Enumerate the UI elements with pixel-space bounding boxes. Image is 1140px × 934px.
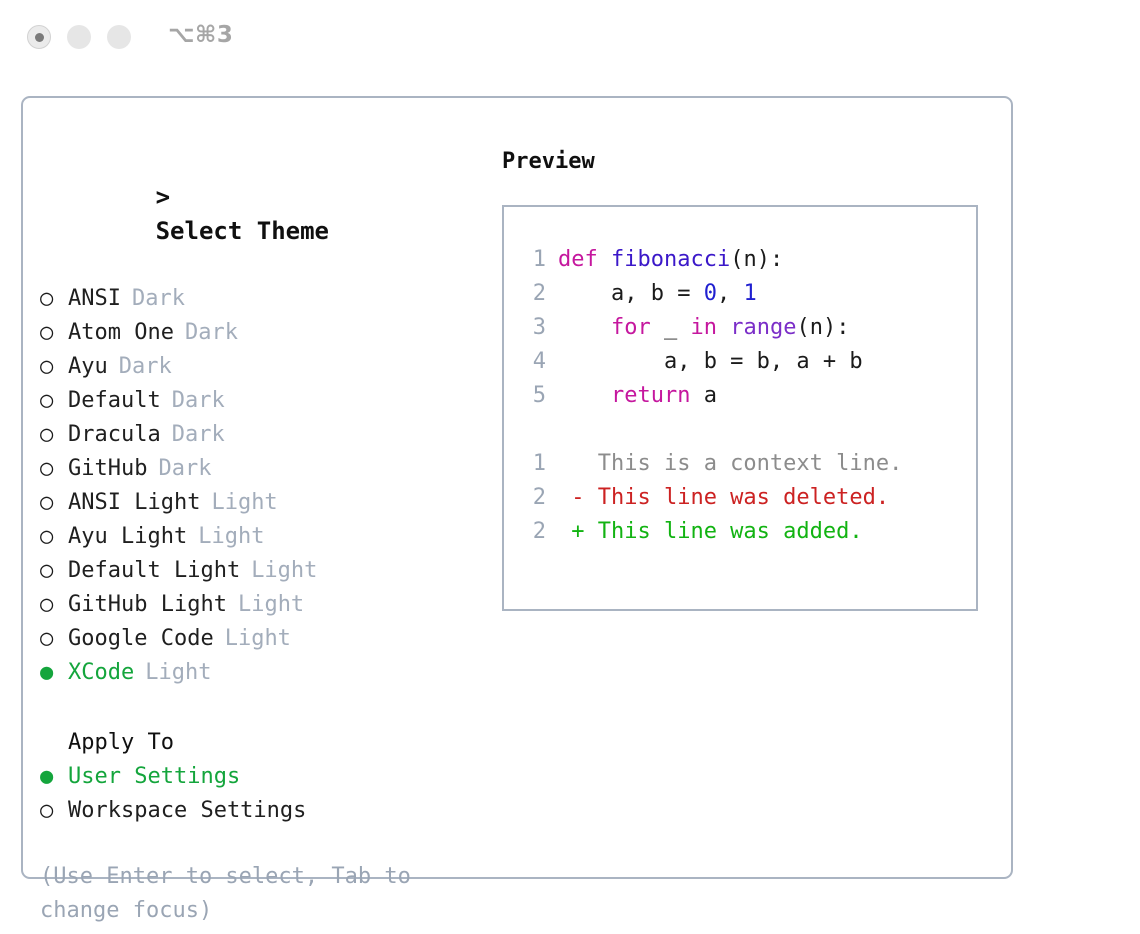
token-txt <box>558 383 611 408</box>
diff-line: 1 This is a context line. <box>518 447 902 481</box>
token-txt: a, b = b, a + b <box>558 349 863 374</box>
radio-unselected-icon: ○ <box>40 486 68 520</box>
radio-unselected-icon: ○ <box>40 384 68 418</box>
window-titlebar: ⌥⌘3 <box>0 0 1140 78</box>
line-number: 2 <box>518 277 546 311</box>
theme-option-5[interactable]: ○GitHubDark <box>40 452 490 486</box>
theme-option-7[interactable]: ○Ayu LightLight <box>40 520 490 554</box>
traffic-light-buttons <box>27 25 131 49</box>
theme-option-9[interactable]: ○GitHub LightLight <box>40 588 490 622</box>
code-preview: 1def fibonacci(n):2 a, b = 0, 13 for _ i… <box>518 243 902 549</box>
traffic-light-second-dot[interactable] <box>67 25 91 49</box>
keyboard-shortcut-label: ⌥⌘3 <box>168 22 233 48</box>
radio-unselected-icon: ○ <box>40 282 68 316</box>
theme-option-label: Ayu <box>68 350 108 384</box>
theme-picker-panel: > Select Theme ○ANSIDark○Atom OneDark○Ay… <box>21 96 1013 879</box>
theme-option-10[interactable]: ○Google CodeLight <box>40 622 490 656</box>
select-theme-heading: > Select Theme <box>40 146 490 282</box>
token-txt: a, b = <box>558 281 704 306</box>
token-txt: (n): <box>730 247 783 272</box>
theme-option-label: Default <box>68 384 161 418</box>
theme-option-label: ANSI Light <box>68 486 200 520</box>
theme-option-label: GitHub Light <box>68 588 227 622</box>
theme-option-6[interactable]: ○ANSI LightLight <box>40 486 490 520</box>
code-line: 2 a, b = 0, 1 <box>518 277 902 311</box>
token-txt: (n): <box>796 315 849 340</box>
radio-unselected-icon: ○ <box>40 588 68 622</box>
preview-box: 1def fibonacci(n):2 a, b = 0, 13 for _ i… <box>502 205 978 611</box>
theme-option-8[interactable]: ○Default LightLight <box>40 554 490 588</box>
code-line: 4 a, b = b, a + b <box>518 345 902 379</box>
theme-option-0[interactable]: ○ANSIDark <box>40 282 490 316</box>
line-number: 1 <box>518 243 546 277</box>
keyboard-hint-text: (Use Enter to select, Tab to change focu… <box>40 860 440 928</box>
radio-selected-icon: ● <box>40 656 68 690</box>
radio-selected-icon: ● <box>40 760 68 794</box>
diff-line: 2 - This line was deleted. <box>518 481 902 515</box>
apply-to-option-label: User Settings <box>68 760 240 794</box>
token-del: - This line was deleted. <box>558 485 889 510</box>
apply-to-option-label: Workspace Settings <box>68 794 306 828</box>
radio-unselected-icon: ○ <box>40 418 68 452</box>
theme-option-label: XCode <box>68 656 134 690</box>
theme-kind-badge: Dark <box>172 384 225 418</box>
code-line: 1def fibonacci(n): <box>518 243 902 277</box>
code-line-text: + This line was added. <box>546 515 863 549</box>
token-txt: _ <box>651 315 691 340</box>
theme-option-label: Ayu Light <box>68 520 187 554</box>
token-call: range <box>730 315 796 340</box>
theme-kind-badge: Light <box>251 554 317 588</box>
theme-kind-badge: Dark <box>132 282 185 316</box>
radio-unselected-icon: ○ <box>40 554 68 588</box>
apply-to-option-1[interactable]: ○Workspace Settings <box>40 794 490 828</box>
token-fn: fibonacci <box>611 247 730 272</box>
token-ctx: This is a context line. <box>558 451 902 476</box>
line-number: 1 <box>518 447 546 481</box>
line-number: 3 <box>518 311 546 345</box>
token-kw: def <box>558 247 611 272</box>
theme-kind-badge: Dark <box>172 418 225 452</box>
theme-option-1[interactable]: ○Atom OneDark <box>40 316 490 350</box>
apply-to-option-list[interactable]: ●User Settings○Workspace Settings <box>40 760 490 828</box>
preview-heading: Preview <box>502 146 992 178</box>
theme-option-label: Atom One <box>68 316 174 350</box>
token-kw: return <box>611 383 690 408</box>
diff-line: 2 + This line was added. <box>518 515 902 549</box>
token-txt: a <box>690 383 717 408</box>
theme-option-label: ANSI <box>68 282 121 316</box>
traffic-light-third-dot[interactable] <box>107 25 131 49</box>
code-line: 3 for _ in range(n): <box>518 311 902 345</box>
radio-unselected-icon: ○ <box>40 350 68 384</box>
theme-kind-badge: Dark <box>185 316 238 350</box>
token-add: + This line was added. <box>558 519 863 544</box>
code-line-text: a, b = 0, 1 <box>546 277 757 311</box>
token-txt: , <box>717 281 744 306</box>
preview-column: Preview 1def fibonacci(n):2 a, b = 0, 13… <box>502 146 992 611</box>
apply-to-section: Apply To ●User Settings○Workspace Settin… <box>40 726 490 828</box>
code-line-text: - This line was deleted. <box>546 481 889 515</box>
theme-option-3[interactable]: ○DefaultDark <box>40 384 490 418</box>
token-num: 0 <box>704 281 717 306</box>
theme-kind-badge: Light <box>225 622 291 656</box>
token-txt <box>717 315 730 340</box>
theme-option-label: Google Code <box>68 622 214 656</box>
line-number: 2 <box>518 481 546 515</box>
radio-unselected-icon: ○ <box>40 520 68 554</box>
theme-option-label: Dracula <box>68 418 161 452</box>
code-line: 5 return a <box>518 379 902 413</box>
theme-option-2[interactable]: ○AyuDark <box>40 350 490 384</box>
line-number: 2 <box>518 515 546 549</box>
apply-to-option-0[interactable]: ●User Settings <box>40 760 490 794</box>
token-kw: in <box>690 315 717 340</box>
theme-kind-badge: Light <box>198 520 264 554</box>
token-num: 1 <box>743 281 756 306</box>
theme-kind-badge: Light <box>238 588 304 622</box>
theme-kind-badge: Dark <box>158 452 211 486</box>
theme-kind-badge: Light <box>145 656 211 690</box>
code-line-text: def fibonacci(n): <box>546 243 783 277</box>
theme-kind-badge: Light <box>211 486 277 520</box>
code-line-text: for _ in range(n): <box>546 311 849 345</box>
theme-kind-badge: Dark <box>119 350 172 384</box>
token-kw: for <box>611 315 651 340</box>
theme-option-list[interactable]: ○ANSIDark○Atom OneDark○AyuDark○DefaultDa… <box>40 282 490 690</box>
radio-unselected-icon: ○ <box>40 316 68 350</box>
theme-option-11[interactable]: ●XCodeLight <box>40 656 490 690</box>
traffic-light-active-dot[interactable] <box>27 25 51 49</box>
radio-unselected-icon: ○ <box>40 622 68 656</box>
select-theme-heading-label: Select Theme <box>156 217 329 245</box>
line-number: 5 <box>518 379 546 413</box>
theme-selection-column: > Select Theme ○ANSIDark○Atom OneDark○Ay… <box>40 146 490 928</box>
code-line-text: a, b = b, a + b <box>546 345 863 379</box>
theme-option-label: Default Light <box>68 554 240 588</box>
code-spacer <box>518 413 902 447</box>
apply-to-heading: Apply To <box>40 726 490 760</box>
code-line-text: return a <box>546 379 717 413</box>
radio-unselected-icon: ○ <box>40 452 68 486</box>
token-txt <box>558 315 611 340</box>
theme-option-4[interactable]: ○DraculaDark <box>40 418 490 452</box>
prompt-caret-icon: > <box>156 183 170 211</box>
radio-unselected-icon: ○ <box>40 794 68 828</box>
theme-option-label: GitHub <box>68 452 147 486</box>
line-number: 4 <box>518 345 546 379</box>
code-line-text: This is a context line. <box>546 447 902 481</box>
